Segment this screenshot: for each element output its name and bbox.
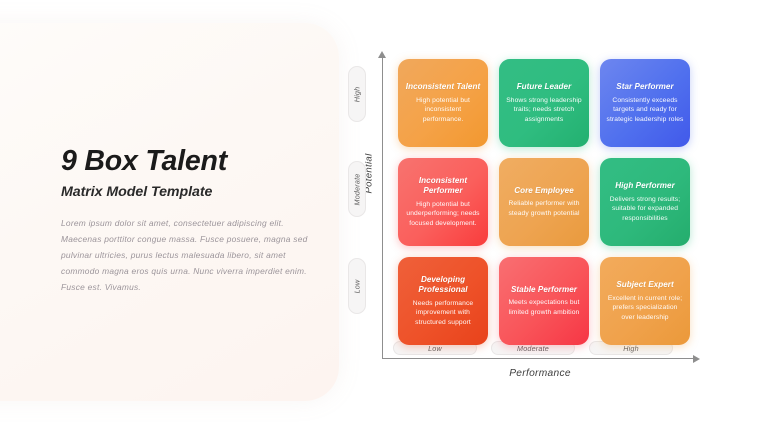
cell-title: Stable Performer <box>511 285 577 295</box>
matrix-cell[interactable]: Inconsistent Talent High potential but i… <box>398 59 488 147</box>
cell-description: Needs performance improvement with struc… <box>404 299 482 328</box>
cell-title: Inconsistent Talent <box>406 82 480 92</box>
x-axis-title: Performance <box>460 368 620 379</box>
matrix-cell[interactable]: Stable Performer Meets expectations but … <box>499 257 589 345</box>
cell-description: Shows strong leadership traits; needs st… <box>505 96 583 125</box>
y-axis-line <box>382 56 383 359</box>
matrix-cell[interactable]: Core Employee Reliable performer with st… <box>499 158 589 246</box>
y-tick-high-label: High <box>353 86 362 102</box>
matrix-grid: Inconsistent Talent High potential but i… <box>398 59 690 345</box>
cell-description: Excellent in current role; prefers speci… <box>606 294 684 323</box>
cell-title: Developing Professional <box>404 275 482 296</box>
y-tick-low: Low <box>348 258 366 314</box>
y-axis-arrow-icon <box>378 51 386 58</box>
cell-description: Meets expectations but limited growth am… <box>505 298 583 317</box>
page-subtitle: Matrix Model Template <box>61 184 323 200</box>
cell-title: High Performer <box>615 181 675 191</box>
nine-box-matrix: Potential Performance High Moderate Low … <box>340 0 768 432</box>
cell-title: Future Leader <box>517 82 572 92</box>
cell-description: High potential but underperforming; need… <box>404 200 482 229</box>
y-tick-moderate: Moderate <box>348 161 366 217</box>
cell-description: Delivers strong results; suitable for ex… <box>606 195 684 224</box>
matrix-cell[interactable]: Star Performer Consistently exceeds targ… <box>600 59 690 147</box>
y-tick-moderate-label: Moderate <box>353 173 362 205</box>
x-axis-arrow-icon <box>693 355 700 363</box>
matrix-cell[interactable]: Inconsistent Performer High potential bu… <box>398 158 488 246</box>
page-title: 9 Box Talent <box>61 146 323 177</box>
x-axis-line <box>382 358 696 359</box>
description-text: Lorem ipsum dolor sit amet, consectetuer… <box>61 215 323 296</box>
matrix-cell[interactable]: Future Leader Shows strong leadership tr… <box>499 59 589 147</box>
cell-title: Subject Expert <box>616 280 673 290</box>
cell-title: Star Performer <box>616 82 673 92</box>
cell-description: Consistently exceeds targets and ready f… <box>606 96 684 125</box>
matrix-cell[interactable]: Developing Professional Needs performanc… <box>398 257 488 345</box>
cell-description: Reliable performer with steady growth po… <box>505 199 583 218</box>
cell-title: Core Employee <box>514 186 574 196</box>
y-tick-high: High <box>348 66 366 122</box>
cell-title: Inconsistent Performer <box>404 176 482 197</box>
title-block: 9 Box Talent Matrix Model Template Lorem… <box>61 146 323 295</box>
cell-description: High potential but inconsistent performa… <box>404 96 482 125</box>
matrix-cell[interactable]: High Performer Delivers strong results; … <box>600 158 690 246</box>
matrix-cell[interactable]: Subject Expert Excellent in current role… <box>600 257 690 345</box>
y-tick-low-label: Low <box>352 279 361 293</box>
slide: 9 Box Talent Matrix Model Template Lorem… <box>0 0 768 432</box>
